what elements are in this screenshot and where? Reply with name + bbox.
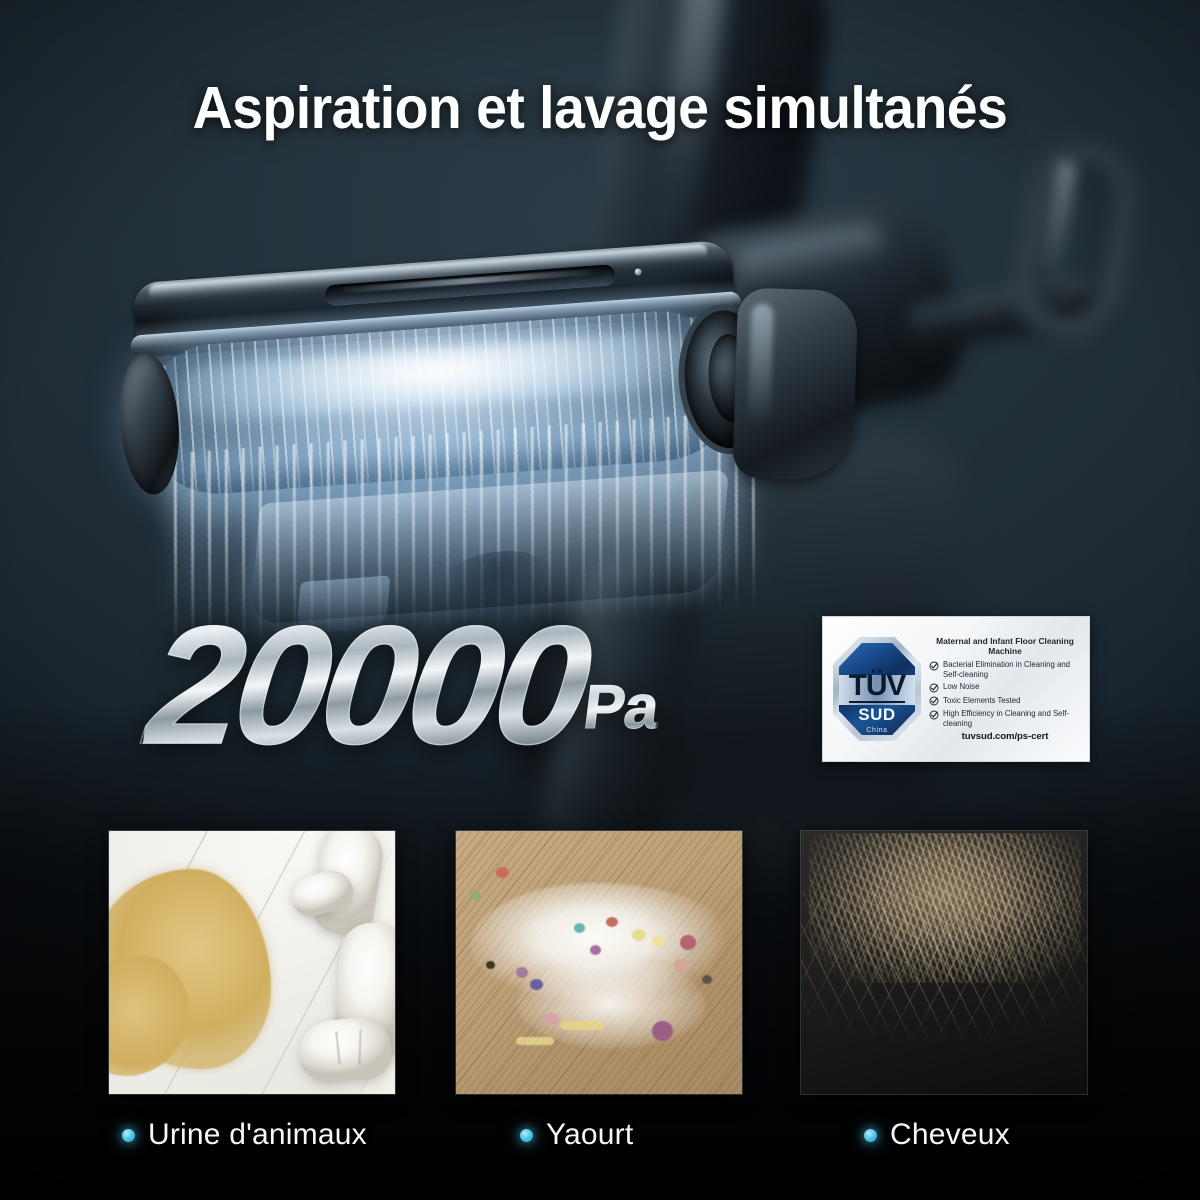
checkmark-icon (929, 710, 939, 720)
badge-feature-item: Bacterial Elimination in Cleaning and Se… (929, 660, 1081, 679)
badge-feature-label: High Efficiency in Cleaning and Self-cle… (943, 709, 1081, 728)
cereal-piece (574, 923, 585, 933)
cereal-piece (632, 929, 646, 941)
dog-paw-lower (296, 1015, 393, 1085)
wood-floor-photo (456, 831, 742, 1094)
thumbnail-pet-urine (108, 830, 396, 1095)
cereal-piece (496, 867, 509, 878)
thumbnail-hair (800, 830, 1088, 1095)
caption-hair: Cheveux (864, 1118, 1010, 1152)
cereal-piece (530, 979, 543, 990)
cereal-piece (652, 1021, 673, 1041)
tuv-region-text: China (829, 727, 925, 734)
hair-loose-strands (801, 891, 1088, 1071)
tuv-brand-text: TÜV (829, 671, 925, 701)
bullet-dot-icon (520, 1129, 533, 1142)
cereal-crumb (516, 1037, 554, 1045)
checkmark-icon (929, 683, 939, 693)
badge-feature-item: High Efficiency in Cleaning and Self-cle… (929, 709, 1081, 728)
example-captions: Urine d'animaux Yaourt Cheveux (0, 1118, 1200, 1176)
cereal-piece (680, 935, 696, 950)
cereal-crumb (560, 1021, 604, 1030)
caption-yogurt: Yaourt (520, 1118, 633, 1152)
tuv-certification-badge: TÜV SUD China Maternal and Infant Floor … (822, 616, 1090, 762)
pressure-unit: Pa (580, 677, 661, 739)
badge-title: Maternal and Infant Floor Cleaning Machi… (929, 636, 1081, 657)
caption-label: Cheveux (890, 1118, 1010, 1152)
cereal-piece (516, 967, 528, 978)
cereal-piece (674, 959, 689, 972)
cereal-piece (544, 1013, 559, 1025)
bullet-dot-icon (122, 1129, 135, 1142)
page-title: Aspiration et lavage simultanés (36, 74, 1164, 142)
thumbnail-yogurt (455, 830, 743, 1095)
suction-pressure-callout: 20000 Pa (150, 608, 658, 763)
cereal-piece (606, 917, 618, 927)
caption-label: Yaourt (546, 1118, 633, 1152)
tuv-underline (849, 701, 905, 703)
yogurt-spill-secondary (516, 959, 706, 1049)
badge-feature-list: Bacterial Elimination in Cleaning and Se… (929, 660, 1081, 728)
caption-label: Urine d'animaux (148, 1118, 367, 1152)
product-marketing-image: Aspiration et lavage simultanés 20000 Pa… (0, 0, 1200, 1200)
caption-pet-urine: Urine d'animaux (122, 1118, 367, 1152)
bullet-dot-icon (864, 1129, 877, 1142)
pressure-value: 20000 (141, 608, 598, 763)
badge-feature-label: Toxic Elements Tested (943, 696, 1020, 705)
badge-feature-label: Low Noise (943, 682, 979, 691)
badge-content: Maternal and Infant Floor Cleaning Machi… (925, 636, 1081, 743)
cereal-piece (590, 945, 601, 955)
example-thumbnails (0, 830, 1200, 1098)
cereal-piece (652, 935, 665, 947)
cereal-crumb (702, 975, 712, 984)
checkmark-icon (929, 696, 939, 706)
badge-feature-item: Low Noise (929, 682, 1081, 693)
cereal-piece (470, 891, 481, 901)
cereal-crumb (486, 961, 495, 969)
dark-floor-photo (801, 831, 1087, 1094)
badge-feature-item: Toxic Elements Tested (929, 696, 1081, 707)
badge-url: tuvsud.com/ps-cert (929, 731, 1081, 742)
checkmark-icon (929, 661, 939, 671)
tile-floor-photo (109, 831, 395, 1094)
badge-feature-label: Bacterial Elimination in Cleaning and Se… (943, 660, 1081, 679)
tuv-seal-icon: TÜV SUD China (829, 633, 925, 745)
tuv-division-text: SUD (829, 705, 925, 725)
